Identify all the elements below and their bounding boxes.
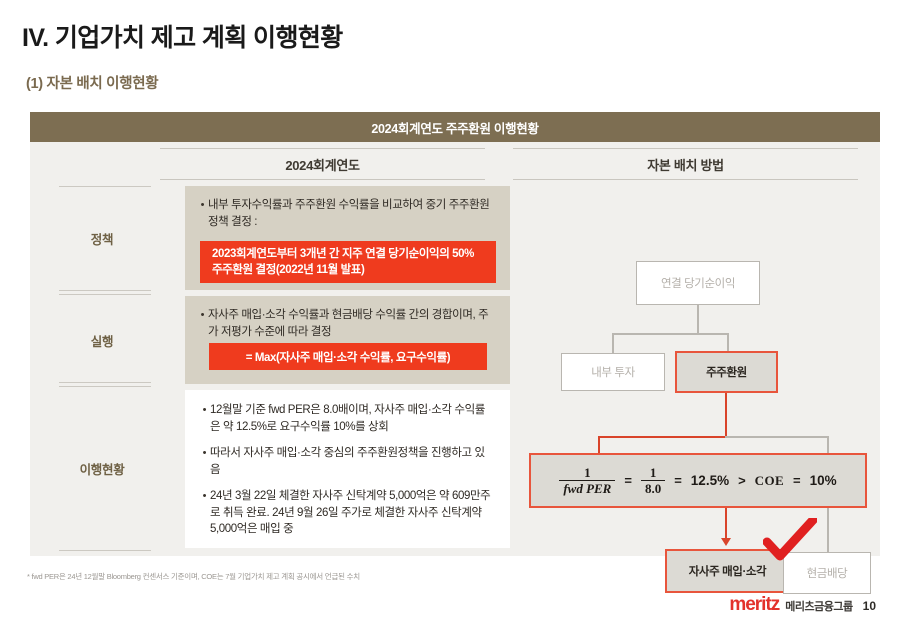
arrow-head-icon (721, 538, 731, 546)
page-title: IV. 기업가치 제고 계획 이행현황 (22, 18, 343, 54)
label-divider (59, 386, 151, 387)
bullet-text: 12월말 기준 fwd PER은 8.0배이며, 자사주 매입·소각 수익률은 … (210, 402, 494, 435)
meritz-logo: meritz (729, 594, 779, 616)
bullet-dot-icon: • (197, 197, 208, 213)
fraction-one-over-fwd-per: 1 fwd PER (559, 466, 615, 495)
greater-than-sign: > (738, 473, 746, 488)
fraction-denominator: 8.0 (641, 480, 665, 496)
bullet-text: 따라서 자사주 매입·소각 중심의 주주환원정책을 진행하고 있음 (210, 445, 494, 478)
bullet-dot-icon: • (197, 307, 208, 323)
bullet-text: 자사주 매입·소각 수익률과 현금배당 수익률 간의 경합이며, 주가 저평가 … (208, 307, 496, 340)
card-body: 정책 실행 이행현황 • 내부 투자수익률과 주주환원 수익률을 비교하여 중기… (30, 184, 880, 556)
row-label-execution: 실행 (43, 294, 161, 386)
row-label-status: 이행현황 (43, 388, 161, 548)
connector-line-red (598, 436, 600, 453)
bullet-text: 내부 투자수익률과 주주환원 수익률을 비교하여 중기 주주환원정책 결정 : (208, 197, 496, 230)
card-header: 2024회계연도 주주환원 이행현황 (30, 112, 880, 142)
connector-line-red (725, 393, 727, 436)
bullet-item: • 내부 투자수익률과 주주환원 수익률을 비교하여 중기 주주환원정책 결정 … (185, 186, 510, 230)
content-card: 2024회계연도 주주환원 이행현황 2024회계연도 자본 배치 방법 정책 … (30, 112, 880, 556)
fraction-numerator: 1 (646, 466, 661, 480)
node-shareholder-return: 주주환원 (675, 351, 778, 393)
fraction-denominator: fwd PER (559, 480, 615, 496)
fraction-numerator: 1 (580, 466, 595, 480)
per-yield-value: 12.5% (691, 473, 729, 488)
connector-line-red (598, 436, 727, 438)
connector-line (725, 436, 828, 438)
bullet-dot-icon: • (199, 402, 210, 418)
equals-sign-3: = (793, 473, 801, 488)
equals-sign-1: = (624, 473, 632, 488)
footnote: * fwd PER은 24년 12월말 Bloomberg 컨센서스 기준이며,… (27, 571, 360, 582)
panel-execution: • 자사주 매입·소각 수익률과 현금배당 수익률 간의 경합이며, 주가 저평… (185, 296, 510, 384)
per-coe-formula: 1 fwd PER = 1 8.0 = 12.5% > COE = 1 (559, 466, 836, 495)
node-cash-dividend: 현금배당 (783, 552, 871, 594)
slide-root: IV. 기업가치 제고 계획 이행현황 (1) 자본 배치 이행현황 2024회… (0, 0, 900, 623)
connector-line (612, 333, 614, 353)
capital-allocation-diagram: 연결 당기순이익 내부 투자 주주환원 1 (525, 256, 870, 623)
equals-sign-2: = (674, 473, 682, 488)
node-internal-investment: 내부 투자 (561, 353, 665, 391)
column-header-right: 자본 배치 방법 (513, 148, 858, 180)
page-number: 10 (863, 599, 876, 613)
page-subtitle: (1) 자본 배치 이행현황 (26, 72, 158, 93)
execution-highlight-box: = Max(자사주 매입·소각 수익률, 요구수익률) (209, 343, 487, 370)
coe-value: 10% (810, 473, 837, 488)
coe-label: COE (755, 473, 784, 489)
bullet-item: • 24년 3월 22일 체결한 자사주 신탁계약 5,000억은 약 609만… (185, 488, 510, 538)
policy-highlight-box: 2023회계연도부터 3개년 간 지주 연결 당기순이익의 50% 주주환원 결… (200, 241, 496, 283)
bullet-text: 24년 3월 22일 체결한 자사주 신탁계약 5,000억은 약 609만주로… (210, 488, 494, 538)
bullet-dot-icon: • (199, 488, 210, 504)
column-headers: 2024회계연도 자본 배치 방법 (30, 142, 880, 184)
label-divider (59, 290, 151, 291)
per-coe-formula-box: 1 fwd PER = 1 8.0 = 12.5% > COE = 1 (529, 453, 867, 508)
panel-status: • 12월말 기준 fwd PER은 8.0배이며, 자사주 매입·소각 수익률… (185, 390, 510, 548)
fraction-one-over-eight: 1 8.0 (641, 466, 665, 495)
status-bullet-list: • 12월말 기준 fwd PER은 8.0배이며, 자사주 매입·소각 수익률… (185, 390, 510, 538)
column-header-left: 2024회계연도 (160, 148, 485, 180)
label-divider (59, 382, 151, 383)
bullet-item: • 자사주 매입·소각 수익률과 현금배당 수익률 간의 경합이며, 주가 저평… (185, 296, 510, 340)
bullet-dot-icon: • (199, 445, 210, 461)
node-buyback-cancel: 자사주 매입·소각 (665, 549, 790, 593)
connector-line-red (725, 508, 727, 540)
row-label-column: 정책 실행 이행현황 (43, 184, 161, 556)
connector-line (697, 305, 699, 333)
node-net-income: 연결 당기순이익 (636, 261, 760, 305)
meritz-logo-ko: 메리츠금융그룹 (785, 598, 852, 614)
label-divider (59, 550, 151, 551)
slide-footer: meritz 메리츠금융그룹 10 (729, 594, 876, 616)
bullet-item: • 12월말 기준 fwd PER은 8.0배이며, 자사주 매입·소각 수익률… (185, 402, 510, 435)
card-header-title: 2024회계연도 주주환원 이행현황 (371, 118, 538, 137)
connector-line (612, 333, 729, 335)
connector-line (727, 333, 729, 351)
row-label-policy: 정책 (43, 184, 161, 292)
bullet-item: • 따라서 자사주 매입·소각 중심의 주주환원정책을 진행하고 있음 (185, 445, 510, 478)
panel-policy: • 내부 투자수익률과 주주환원 수익률을 비교하여 중기 주주환원정책 결정 … (185, 186, 510, 290)
